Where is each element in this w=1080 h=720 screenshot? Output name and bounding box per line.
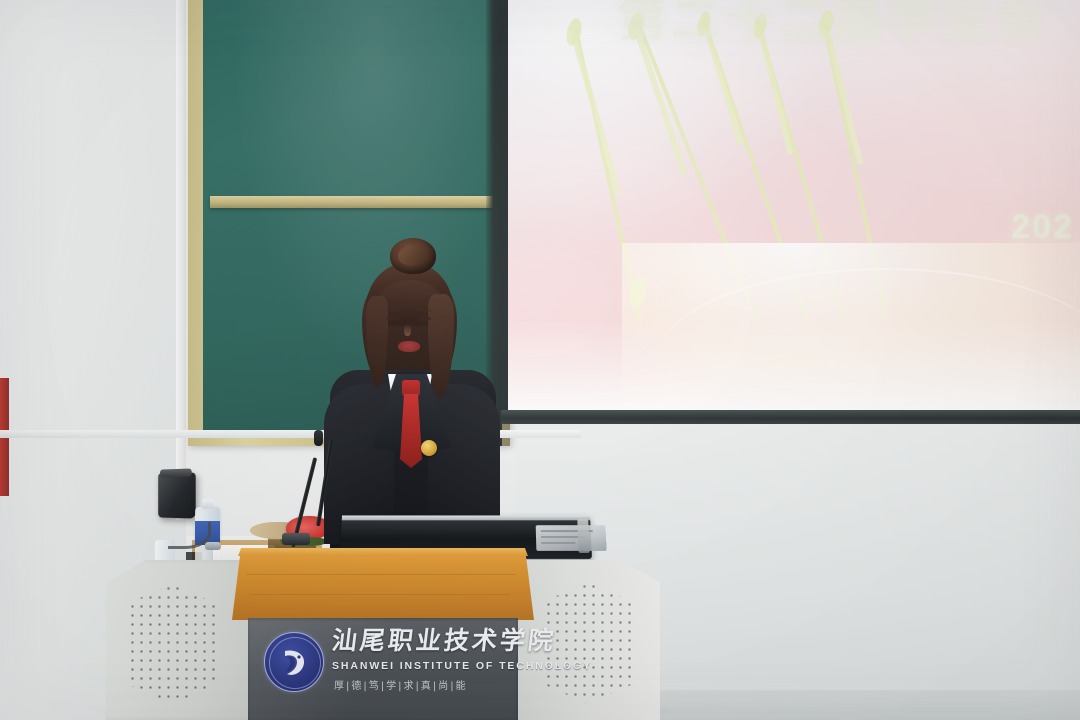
logo-english-name: SHANWEI INSTITUTE OF TECHNOLOGY <box>332 660 592 672</box>
logo-chinese-name: 汕尾职业技术学院 <box>330 628 557 653</box>
mouth <box>398 341 420 352</box>
eye-left <box>386 316 400 321</box>
lectern-wood-edge <box>232 548 534 556</box>
screen-bottom-fade <box>508 318 1080 410</box>
eye-right <box>417 316 431 321</box>
water-bottle-cap <box>202 499 214 509</box>
speaker-grille-right <box>544 582 632 704</box>
screen-year-text: 202 <box>1011 208 1074 247</box>
lectern: 汕尾职业技术学院 SHANWEI INSTITUTE OF TECHNOLOGY… <box>106 548 660 720</box>
speaker-person <box>316 244 506 544</box>
wood-grain-line <box>246 574 516 575</box>
eyebrow-left <box>385 309 401 312</box>
logo-motto: 厚|德|笃|学|求|真|尚|能 <box>334 677 468 692</box>
nose <box>404 324 411 336</box>
panel-display-line <box>541 542 575 544</box>
panel-top-bezel <box>342 515 590 520</box>
crane-bird-icon <box>279 647 309 679</box>
screen-headline-text: 第二十二届学生会 <box>618 0 1050 50</box>
wall-speaker <box>158 472 196 518</box>
lectern-wood-top <box>232 548 534 620</box>
wood-grain-line <box>250 594 510 595</box>
speaker-grille-left <box>128 584 216 704</box>
eyebrow-right <box>416 309 432 312</box>
projection-screen-surface: 第二十二届学生会 202 <box>508 0 1080 410</box>
hair-bun-knot <box>398 246 426 266</box>
chalkboard-rail <box>210 196 495 208</box>
microphone-base <box>282 533 310 545</box>
microphone-head <box>314 430 323 446</box>
institution-logo: 汕尾职业技术学院 SHANWEI INSTITUTE OF TECHNOLOGY… <box>264 626 512 700</box>
projection-screen: 第二十二届学生会 202 <box>501 0 1080 424</box>
wall-corner-edge <box>176 0 186 520</box>
necktie <box>400 394 422 468</box>
logo-seal-emblem <box>264 632 324 692</box>
lapel-badge <box>421 440 437 456</box>
screen-bezel <box>501 410 1080 424</box>
necktie-knot <box>402 380 420 396</box>
wall-speaker-bracket <box>160 468 192 477</box>
photo-scene: 第二十二届学生会 202 <box>0 0 1080 720</box>
